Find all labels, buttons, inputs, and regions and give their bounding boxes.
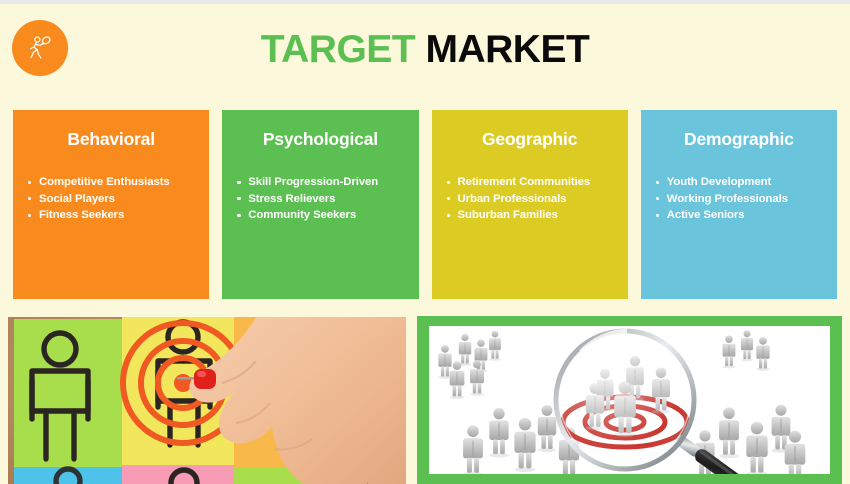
segment-cards: Behavioral Competitive Enthusiasts Socia… [13,110,837,299]
crowd-magnifier-target-photo [429,326,830,474]
list-item: Social Players [28,191,203,208]
segment-card-psychological[interactable]: Psychological Skill Progression-Driven S… [222,110,418,299]
segment-card-list: Skill Progression-Driven Stress Reliever… [222,174,418,224]
page-title: TARGET MARKET [0,26,850,74]
list-item: Working Professionals [656,191,831,208]
list-item: Community Seekers [237,207,412,224]
crowd-magnifier-target-photo-frame [417,316,842,484]
sticky-notes-target-pin-photo [8,317,406,484]
slide-canvas: TARGET MARKET Behavioral Competitive Ent… [0,4,850,480]
segment-card-list: Retirement Communities Urban Professiona… [432,174,628,224]
segment-card-demographic[interactable]: Demographic Youth Development Working Pr… [641,110,837,299]
segment-card-behavioral[interactable]: Behavioral Competitive Enthusiasts Socia… [13,110,209,299]
page-title-market: MARKET [425,28,589,71]
segment-card-list: Competitive Enthusiasts Social Players F… [13,174,209,224]
segment-card-geographic[interactable]: Geographic Retirement Communities Urban … [432,110,628,299]
list-item: Stress Relievers [237,191,412,208]
list-item: Competitive Enthusiasts [28,174,203,191]
list-item: Urban Professionals [447,191,622,208]
segment-card-title: Geographic [432,128,628,150]
list-item: Youth Development [656,174,831,191]
list-item: Retirement Communities [447,174,622,191]
list-item: Active Seniors [656,207,831,224]
page-title-target: TARGET [261,28,415,71]
segment-card-title: Psychological [222,128,418,150]
segment-card-list: Youth Development Working Professionals … [641,174,837,224]
list-item: Fitness Seekers [28,207,203,224]
segment-card-title: Behavioral [13,128,209,150]
segment-card-title: Demographic [641,128,837,150]
list-item: Suburban Families [447,207,622,224]
list-item: Skill Progression-Driven [237,174,412,191]
